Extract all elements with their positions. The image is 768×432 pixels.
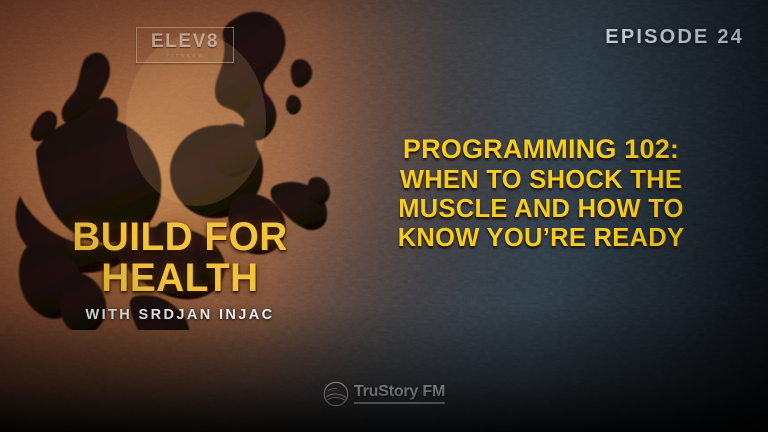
background-vignette [0, 0, 768, 432]
episode-cover-poster: ELEV8 FITNESS EPISODE 24 BUILD FOR HEALT… [0, 0, 768, 432]
